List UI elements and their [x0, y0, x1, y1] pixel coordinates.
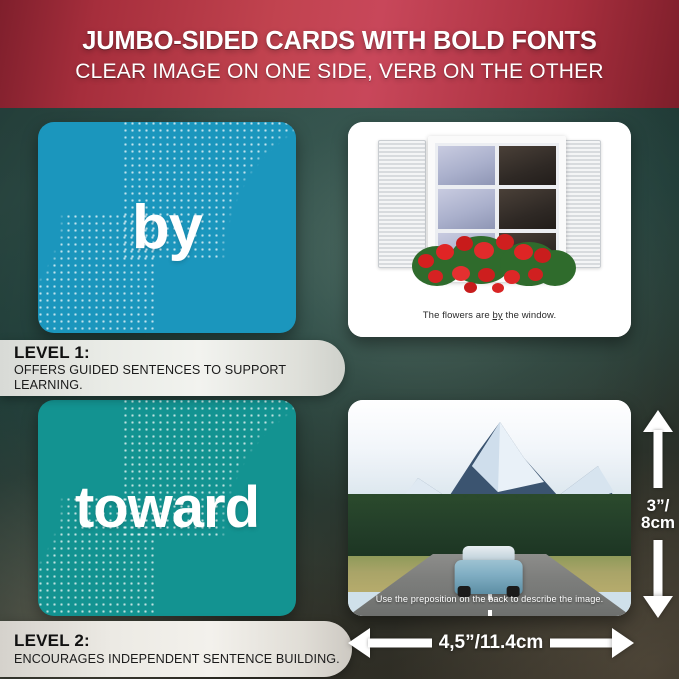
picture-card-window[interactable]: The flowers are by the window.	[348, 122, 631, 337]
window-illustration	[348, 122, 631, 294]
word-card-toward[interactable]: toward	[38, 400, 296, 616]
level-1-banner: LEVEL 1: OFFERS GUIDED SENTENCES TO SUPP…	[0, 340, 345, 396]
word-card-label: by	[132, 197, 202, 259]
header-title: JUMBO-SIDED CARDS WITH BOLD FONTS	[82, 27, 596, 53]
arrow-down-icon	[641, 540, 675, 618]
level-1-title: LEVEL 1:	[14, 344, 345, 362]
level-2-description: ENCOURAGES INDEPENDENT SENTENCE BUILDING…	[14, 652, 352, 666]
arrow-up-icon	[641, 410, 675, 488]
header-banner: JUMBO-SIDED CARDS WITH BOLD FONTS CLEAR …	[0, 0, 679, 108]
car-illustration	[454, 546, 522, 594]
word-card-label: toward	[75, 479, 259, 537]
window-pane	[499, 146, 556, 185]
product-infographic: JUMBO-SIDED CARDS WITH BOLD FONTS CLEAR …	[0, 0, 679, 679]
arrow-left-icon	[348, 626, 432, 660]
word-card-by[interactable]: by	[38, 122, 296, 333]
height-label-cm: 8cm	[641, 514, 675, 531]
height-dimension-label: 3”/ 8cm	[641, 495, 675, 534]
level-2-banner: LEVEL 2: ENCOURAGES INDEPENDENT SENTENCE…	[0, 621, 352, 677]
level-2-title: LEVEL 2:	[14, 632, 352, 650]
header-subtitle: CLEAR IMAGE ON ONE SIDE, VERB ON THE OTH…	[75, 61, 603, 82]
flower-box-illustration	[408, 220, 578, 298]
height-label-inches: 3”/	[641, 497, 675, 514]
level-1-description: OFFERS GUIDED SENTENCES TO SUPPORT LEARN…	[14, 363, 345, 392]
picture-card-mountain[interactable]: Use the preposition on the back to descr…	[348, 400, 631, 616]
width-dimension-indicator: 4,5”/11.4cm	[348, 626, 634, 660]
mountain-illustration: Use the preposition on the back to descr…	[348, 400, 631, 616]
width-dimension-label: 4,5”/11.4cm	[439, 632, 544, 654]
arrow-right-icon	[550, 626, 634, 660]
card-caption: The flowers are by the window.	[348, 294, 631, 337]
car-body	[454, 560, 522, 594]
card-caption-text: The flowers are by the window.	[423, 310, 556, 321]
card-caption-overlay: Use the preposition on the back to descr…	[356, 594, 623, 604]
window-pane	[438, 146, 495, 185]
height-dimension-indicator: 3”/ 8cm	[641, 410, 675, 618]
